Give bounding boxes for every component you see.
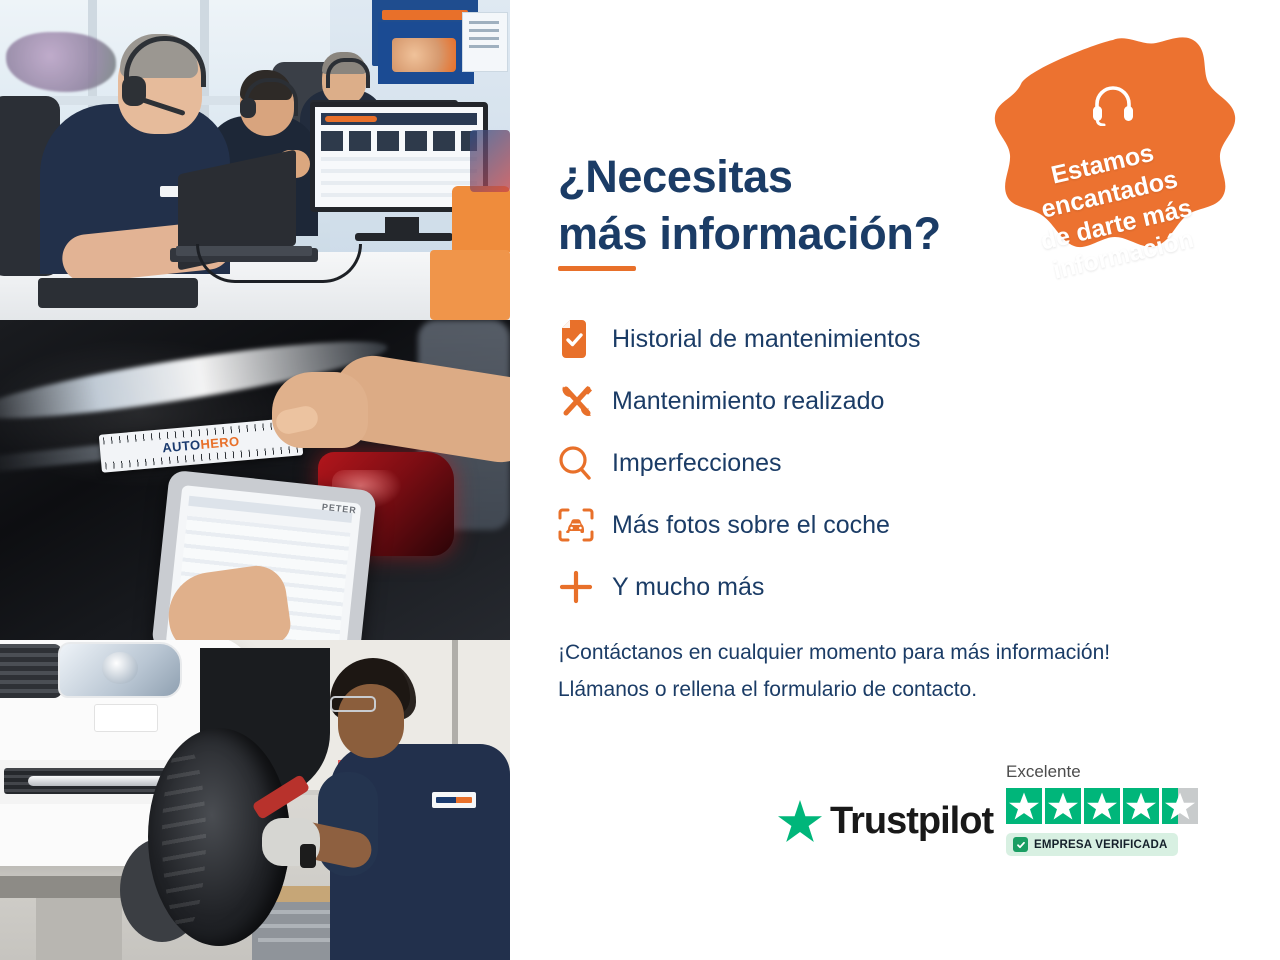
headset-icon: [1090, 82, 1136, 126]
ruler-brand-auto: AUTO: [162, 437, 201, 455]
page-title: ¿Necesitas más información?: [558, 148, 1028, 262]
photo-collage: AUTOHERO PETER: [0, 0, 510, 960]
feature-label: Mantenimiento realizado: [612, 386, 884, 416]
car-photo-frame-icon: [558, 504, 612, 546]
feature-item-more-photos: Más fotos sobre el coche: [558, 494, 1178, 556]
ruler-brand-hero: HERO: [200, 434, 240, 452]
document-check-icon: [558, 318, 612, 360]
star-filled-4: [1123, 788, 1159, 824]
star-filled-1: [1006, 788, 1042, 824]
notebook-on-desk: [38, 278, 198, 308]
trustpilot-logo[interactable]: Trustpilot: [778, 800, 993, 842]
car-lift-column: [36, 898, 122, 960]
trustpilot-brand-label: Trustpilot: [830, 802, 993, 840]
tools-wrench-screwdriver-icon: [558, 380, 612, 422]
trustpilot-star-icon: [778, 800, 822, 842]
contact-copy: ¡Contáctanos en cualquier momento para m…: [558, 634, 1238, 708]
verified-label: EMPRESA VERIFICADA: [1034, 839, 1168, 851]
feature-item-maintenance-history: Historial de mantenimientos: [558, 308, 1178, 370]
rating-label: Excelente: [1006, 762, 1206, 782]
car-inspection-ruler-photo: AUTOHERO PETER: [0, 320, 510, 640]
info-panel: ¿Necesitas más información? Estamos enca…: [510, 0, 1280, 960]
feature-item-much-more: Y mucho más: [558, 556, 1178, 618]
contact-line-1: ¡Contáctanos en cualquier momento para m…: [558, 634, 1238, 671]
plus-icon: [558, 566, 612, 608]
title-divider: [558, 266, 636, 271]
star-partial-5: [1162, 788, 1198, 824]
desk-cable: [196, 244, 362, 283]
promo-page: AUTOHERO PETER: [0, 0, 1280, 960]
car-grille: [0, 644, 62, 698]
wall-poster-photo: [378, 22, 474, 84]
star-rating: [1006, 788, 1206, 824]
trustpilot-widget[interactable]: Trustpilot Excelente: [778, 762, 1228, 880]
headline-line-1: ¿Necesitas: [558, 148, 1028, 205]
workshop-wheel-photo: [0, 640, 510, 960]
license-plate: [94, 704, 158, 732]
feature-item-maintenance-done: Mantenimiento realizado: [558, 370, 1178, 432]
contact-line-2: Llámanos o rellena el formulario de cont…: [558, 671, 1238, 708]
feature-label: Y mucho más: [612, 572, 764, 602]
feature-label: Más fotos sobre el coche: [612, 510, 890, 540]
magnifier-icon: [558, 442, 612, 484]
wall-notice: [462, 12, 508, 72]
feature-list: Historial de mantenimientos Mantenimient…: [558, 308, 1178, 618]
check-icon: [1013, 837, 1028, 852]
support-badge: Estamos encantados de darte más informac…: [984, 36, 1242, 318]
headline-line-2: más información?: [558, 205, 1028, 262]
autohero-polo-badge: [432, 792, 476, 808]
verified-company-badge: EMPRESA VERIFICADA: [1006, 833, 1178, 856]
orange-chair-second: [430, 250, 510, 320]
feature-item-imperfections: Imperfecciones: [558, 432, 1178, 494]
feature-label: Imperfecciones: [612, 448, 782, 478]
feature-label: Historial de mantenimientos: [612, 324, 920, 354]
decor-banner: [470, 130, 510, 192]
star-filled-2: [1045, 788, 1081, 824]
call-center-agents-photo: [0, 0, 510, 320]
star-filled-3: [1084, 788, 1120, 824]
car-headlight: [58, 642, 182, 698]
trustpilot-rating: Excelente: [1006, 762, 1206, 856]
